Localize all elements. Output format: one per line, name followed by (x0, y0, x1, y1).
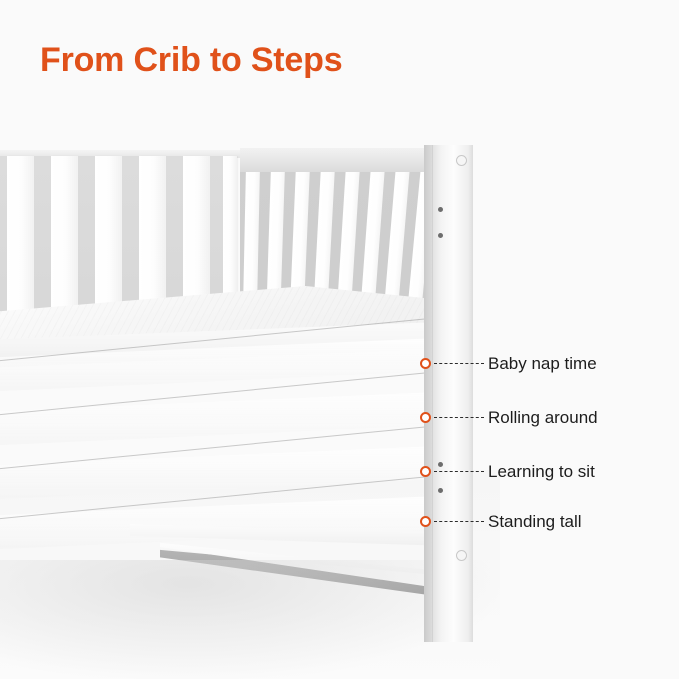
product-feature-image: From Crib to Steps (0, 0, 679, 679)
screw-cap-icon (456, 550, 467, 561)
callout-label: Baby nap time (488, 353, 597, 375)
callout-leader-line (434, 417, 484, 418)
screw-icon (438, 488, 443, 493)
screw-cap-icon (456, 155, 467, 166)
screw-icon (438, 233, 443, 238)
callout-leader-line (434, 521, 484, 522)
crib-illustration (0, 0, 679, 679)
callout-label: Learning to sit (488, 461, 595, 483)
crib-corner-post (432, 145, 473, 642)
callout-label: Rolling around (488, 407, 598, 429)
callout-leader-line (434, 471, 484, 472)
back-rail-top-bar (240, 148, 440, 174)
screw-icon (438, 462, 443, 467)
callout-marker-icon (420, 412, 431, 423)
mattress-ghost-level-3 (0, 392, 438, 447)
callout-marker-icon (420, 516, 431, 527)
callout-leader-line (434, 363, 484, 364)
callout-marker-icon (420, 358, 431, 369)
callout-label: Standing tall (488, 511, 582, 533)
callout-marker-icon (420, 466, 431, 477)
screw-icon (438, 207, 443, 212)
